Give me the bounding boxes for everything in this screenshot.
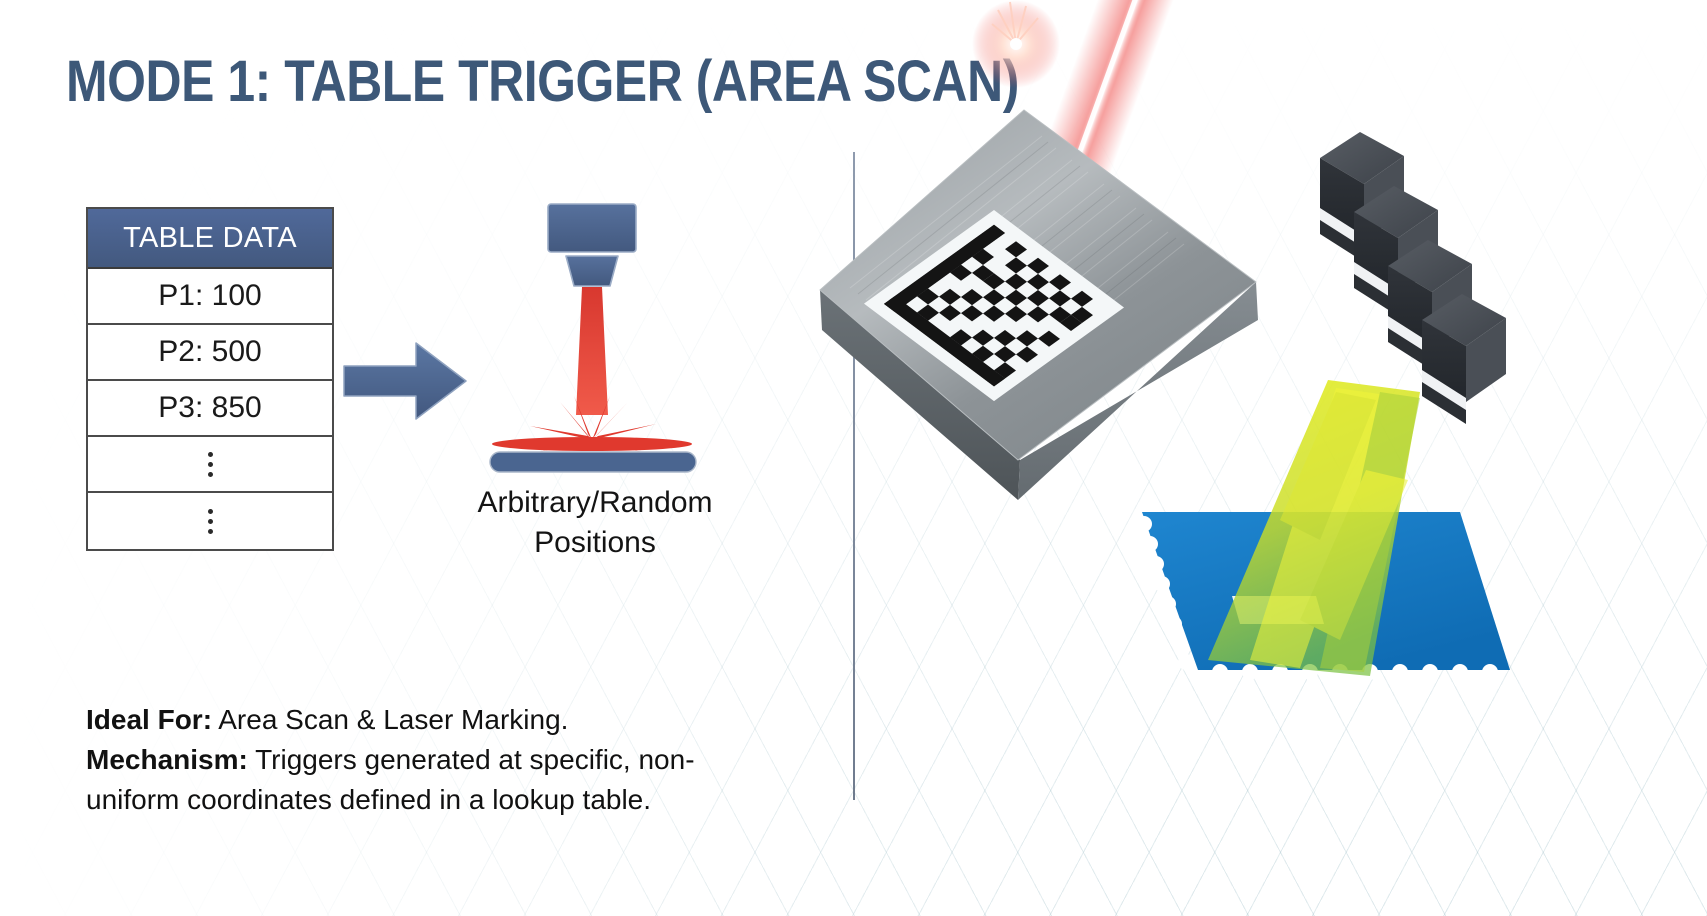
description-item-ideal-for: Ideal For: Area Scan & Laser Marking.: [86, 700, 746, 740]
table-row: ⋮: [88, 493, 332, 549]
table-cell-value: P1: 100: [158, 279, 261, 313]
vertical-ellipsis-icon: [208, 509, 213, 534]
table-row: P1: 100: [88, 269, 332, 325]
caption-line-1: Arbitrary/Random: [400, 483, 790, 523]
scanner-modules: [1320, 132, 1506, 424]
table-row: ⋮: [88, 437, 332, 493]
table-row: P2: 500: [88, 325, 332, 381]
table-row: P3: 850: [88, 381, 332, 437]
table-header: TABLE DATA: [88, 209, 332, 269]
description-item-mechanism: Mechanism: Triggers generated at specifi…: [86, 740, 746, 820]
laser-impact-spark: [972, 0, 1060, 88]
flow-arrow: [342, 338, 468, 424]
right-illustration: 123 ABC: [780, 0, 1707, 916]
laser-marking-icon: [470, 190, 720, 480]
description-label: Mechanism:: [86, 744, 248, 775]
arrow-right-icon: [342, 338, 468, 424]
description-label: Ideal For:: [86, 704, 212, 735]
table-data-panel: TABLE DATA P1: 100 P2: 500 P3: 850 ⋮ ⋮: [86, 207, 334, 551]
caption-line-2: Positions: [400, 523, 790, 563]
slide-canvas: MODE 1: TABLE TRIGGER (AREA SCAN) TABLE …: [0, 0, 1707, 916]
vertical-ellipsis-icon: [208, 452, 213, 477]
description-block: Ideal For: Area Scan & Laser Marking. Me…: [86, 700, 746, 819]
laser-icon-caption: Arbitrary/Random Positions: [400, 483, 790, 563]
scanner-module: [1422, 294, 1506, 424]
laser-head-illustration: [470, 190, 720, 480]
laser-marking-scene: 123 ABC: [780, 0, 1707, 916]
description-text: Area Scan & Laser Marking.: [218, 704, 568, 735]
table-cell-value: P2: 500: [158, 335, 261, 369]
table-cell-value: P3: 850: [158, 391, 261, 425]
